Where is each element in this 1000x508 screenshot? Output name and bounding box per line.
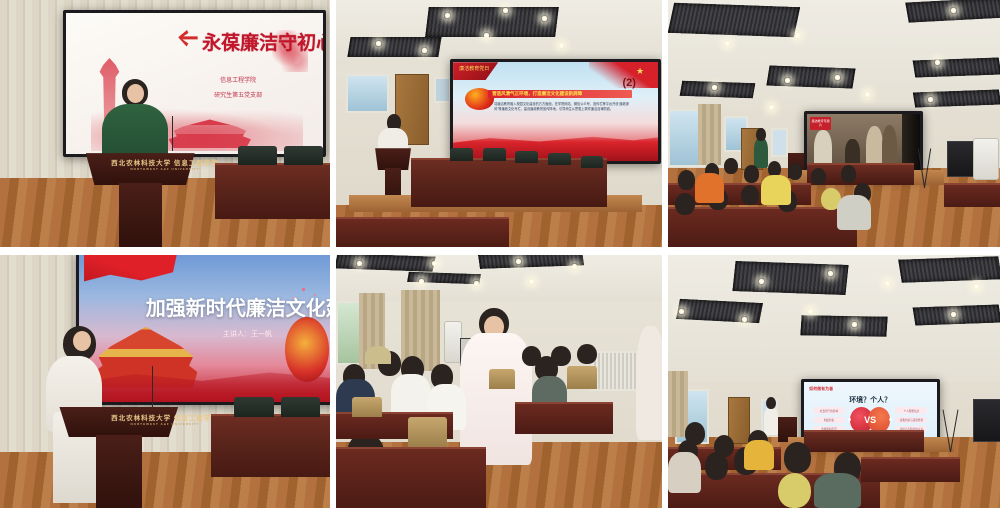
audience-head-6: [788, 163, 803, 180]
video-tag-text: 廉洁教育专题片: [810, 117, 830, 127]
table-mic-1: [450, 148, 473, 160]
chair-back-4[interactable]: [567, 366, 596, 389]
ceiling-lamp-8: [851, 321, 858, 328]
ceiling-lamp-8: [934, 59, 941, 66]
ceiling-lamp-5: [784, 77, 791, 84]
air-conditioner: [973, 138, 998, 180]
podium-1-base: [119, 183, 162, 247]
conference-table: [411, 158, 607, 207]
flag-star-icon: ★: [636, 66, 644, 77]
audience-head-9-cap: [778, 473, 811, 508]
audience-body-orange: [695, 173, 725, 203]
curtain: [668, 371, 688, 437]
vs-dot-right: [889, 418, 892, 421]
ceiling-panel-4: [800, 315, 888, 337]
slide-title-4: 加强新时代廉洁文化建设 主讲人：王一帆: [79, 255, 330, 402]
slide-subtitle-text: 主讲人：王一帆: [223, 329, 272, 339]
head-table: [804, 430, 924, 452]
notice-board: [434, 77, 451, 103]
table-mic-3: [515, 151, 538, 163]
photo-top-right[interactable]: 廉洁教育专题片: [668, 0, 1000, 247]
photo-bottom-right[interactable]: 如何做有为者 环境？个人？ 社会风气的影响 制度约束 监督机制不足 个人理想信念…: [668, 255, 1000, 508]
seated-head-7: [522, 346, 542, 366]
equipment-rack: [973, 399, 1000, 441]
table-mic-2: [483, 148, 506, 160]
ceiling-lamp-7: [558, 42, 565, 49]
party-emblem-icon: [176, 28, 199, 49]
audience-head-5: [705, 452, 728, 480]
seat-row-right: [944, 183, 1000, 207]
ceiling-lamp-3: [515, 258, 522, 265]
head-table-4: [211, 414, 330, 477]
ceiling-lamp-9: [950, 311, 957, 318]
head-table-1: [215, 163, 331, 219]
ceiling-lamp-1: [444, 12, 451, 19]
notice-board: [771, 128, 788, 157]
ceiling-lamp-5: [375, 40, 382, 47]
projection-screen-4: 加强新时代廉洁文化建设 主讲人：王一帆: [76, 255, 330, 405]
chair-back-1[interactable]: [352, 397, 381, 417]
photo-bottom-center[interactable]: [336, 255, 662, 508]
confetti-2: [314, 294, 316, 296]
right-item-2: 自我约束与道德修养: [895, 417, 927, 424]
ceiling-panel-2: [899, 256, 1000, 282]
slide-page-number: (2): [622, 77, 635, 89]
slide-title-text: 永葆廉洁守初心: [202, 28, 326, 55]
ceiling-lamp-4: [571, 263, 578, 270]
front-seat-row: [336, 217, 509, 247]
ceiling-lamp-4: [483, 32, 490, 39]
equipment-rack: [947, 141, 976, 178]
side-door[interactable]: [728, 397, 750, 445]
confetti-3: [293, 297, 295, 299]
desk-row-2: [336, 447, 486, 508]
podium-4-base: [96, 435, 142, 508]
audience-head-3: [724, 158, 737, 174]
video-tag-badge: 廉洁教育专题片: [810, 117, 830, 129]
vs-label: VS: [850, 415, 890, 425]
ceiling-lamp-1: [724, 40, 731, 47]
right-item-1: 个人理想信念: [895, 407, 927, 414]
side-standing-person: [636, 326, 662, 440]
audience-head-11: [741, 185, 759, 205]
seat-row-right: [861, 457, 961, 482]
audience-head-4: [744, 165, 759, 182]
seated-head-8: [551, 346, 571, 366]
ceiling-panel-4: [680, 80, 756, 97]
ceiling-panel-2: [347, 37, 441, 57]
audience-head-7: [784, 442, 811, 472]
slide-content-2: 廉洁教育党日 ★ (2) 营造风清气正环境，打造廉洁文化建设新屏障 将廉洁教育融…: [453, 62, 658, 161]
confetti-1: [302, 288, 305, 291]
ceiling-lamp-1: [758, 278, 765, 285]
red-flag-motif: [84, 255, 177, 294]
vs-dot-left: [848, 418, 851, 421]
standing-student-body: [460, 333, 532, 465]
ceiling-panel-1: [668, 3, 800, 37]
audience-head-7: [811, 168, 826, 185]
speaker-body-6: [764, 407, 777, 435]
audience-head-1: [678, 170, 695, 190]
left-item-1: 社会风气的影响: [813, 407, 845, 414]
audience-body-olive: [814, 473, 860, 508]
photo-collage: 永葆廉洁守初心 信息工程学院 研究生第五党支部 西北农林科技大学 信息工程学院 …: [0, 0, 1000, 508]
table-mic-4: [548, 153, 571, 165]
desk-row-right: [515, 402, 613, 434]
projection-screen-2: 廉洁教育党日 ★ (2) 营造风清气正环境，打造廉洁文化建设新屏障 将廉洁教育融…: [450, 59, 661, 164]
ceiling-lamp-1: [356, 260, 363, 267]
audience-head-5: [768, 161, 781, 177]
microphone-4: [152, 366, 153, 412]
chair-back-2[interactable]: [408, 417, 447, 447]
chair-2[interactable]: [281, 397, 321, 417]
standing-person: [754, 138, 767, 168]
seated-head-3-cap: [365, 346, 391, 364]
ceiling-lamp-10: [768, 104, 775, 111]
speaker-head-6: [766, 397, 776, 410]
audience-body-yellow: [744, 440, 774, 470]
photo-bottom-left[interactable]: 加强新时代廉洁文化建设 主讲人：王一帆 西北农林科技大学 信息工程学院 NORT…: [0, 255, 330, 508]
audience-head-8: [841, 165, 856, 182]
audience-head-9: [675, 193, 695, 215]
chair-1[interactable]: [238, 146, 278, 166]
slide-tag-text: 如何做有为者: [809, 386, 833, 392]
slide-body-text: 将廉洁教育融入校园文化建设的方方面面，在学院网站、微信公众号、宣传栏等平台开设“…: [494, 102, 630, 136]
ceiling-panel-3: [676, 298, 763, 323]
microphone-1: [172, 116, 173, 151]
photo-top-center[interactable]: 廉洁教育党日 ★ (2) 营造风清气正环境，打造廉洁文化建设新屏障 将廉洁教育融…: [336, 0, 662, 247]
chair-back-3[interactable]: [489, 369, 515, 389]
photo-top-left[interactable]: 永葆廉洁守初心 信息工程学院 研究生第五党支部 西北农林科技大学 信息工程学院 …: [0, 0, 330, 247]
ceiling-panel-5: [912, 58, 1000, 78]
chair-2[interactable]: [284, 146, 324, 166]
speaker-face: [73, 331, 91, 351]
curtain: [698, 104, 721, 166]
speaker-face: [127, 84, 144, 103]
slide-title-text: 加强新时代廉洁文化建设: [146, 292, 330, 321]
slide-subtitle-line1: 信息工程学院: [200, 75, 277, 84]
table-mic-5: [581, 156, 604, 168]
ceiling-lamp-6: [741, 316, 748, 323]
standing-person-head: [756, 128, 766, 140]
left-item-2: 制度约束: [813, 417, 845, 424]
ceiling-panel-3: [766, 65, 855, 88]
ceiling-panel-1: [733, 261, 849, 295]
slide-banner-text: 营造风清气正环境，打造廉洁文化建设新屏障: [492, 91, 628, 97]
seat-row-front: [668, 207, 857, 247]
ceiling-lamp-6: [421, 47, 428, 54]
party-seal-motif: [285, 317, 329, 382]
slide-question-text: 环境？个人？: [804, 395, 937, 405]
slide-subtitle-line2: 研究生第五党支部: [200, 90, 277, 99]
audience-body-beige: [668, 452, 701, 492]
audience-body-yellow: [761, 175, 791, 205]
ceiling-lamp-5: [418, 278, 425, 285]
chair-1[interactable]: [234, 397, 274, 417]
side-window: [346, 74, 389, 113]
header-tag-text: 廉洁教育党日: [459, 65, 489, 72]
ceiling-lamp-2: [431, 260, 438, 267]
audience-body-grey: [837, 195, 870, 230]
seated-head-9: [577, 344, 597, 364]
